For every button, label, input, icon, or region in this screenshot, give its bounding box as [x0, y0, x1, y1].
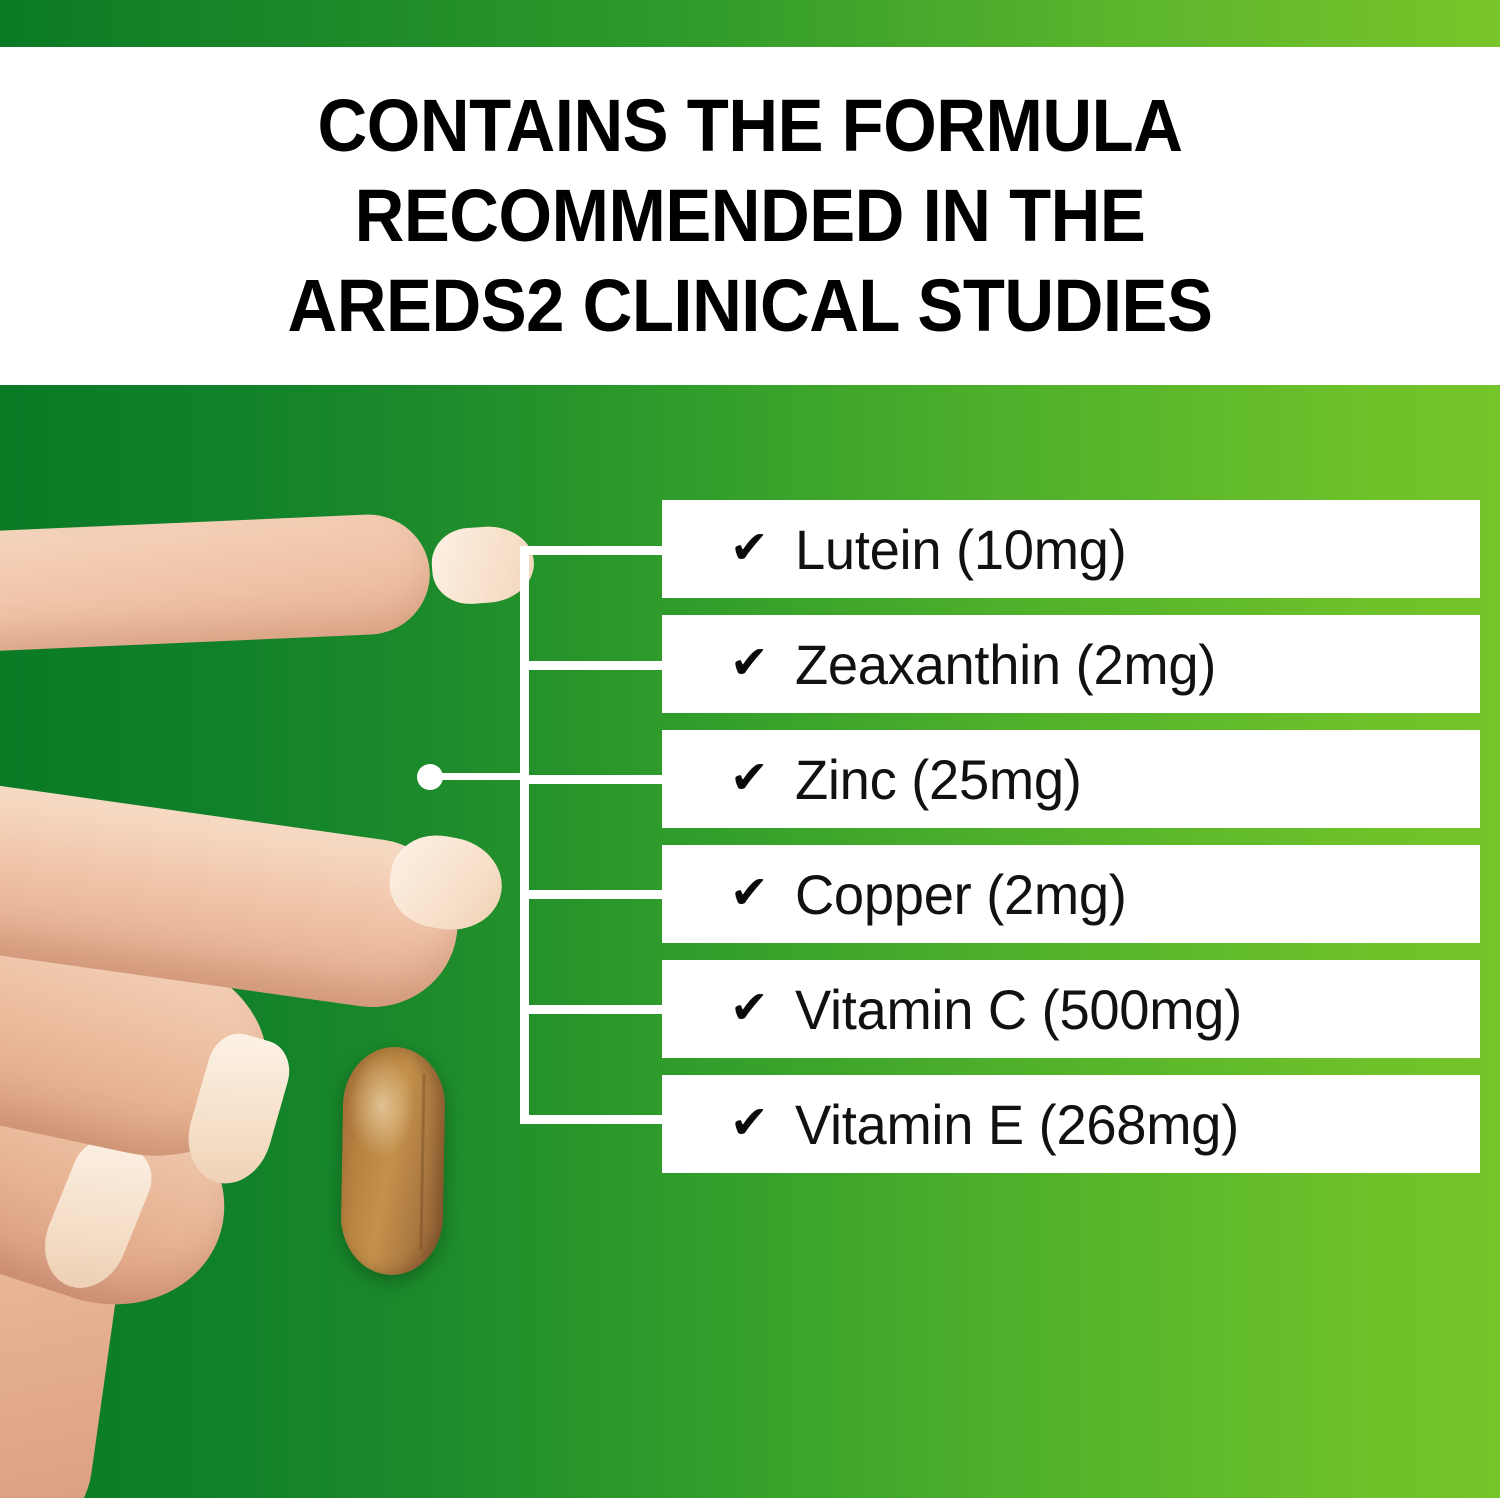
- ingredient-label: Copper (2mg): [795, 862, 1127, 927]
- bracket-branch-3: [520, 775, 668, 784]
- bracket-vertical-line: [520, 546, 529, 1124]
- list-item[interactable]: ✔ Zinc (25mg): [662, 730, 1480, 828]
- ingredient-label: Zeaxanthin (2mg): [795, 632, 1216, 697]
- bracket-branch-2: [520, 661, 668, 670]
- headline-line-1: CONTAINS THE FORMULA: [164, 81, 1336, 171]
- check-icon: ✔: [730, 524, 769, 570]
- check-icon: ✔: [730, 754, 769, 800]
- check-icon: ✔: [730, 639, 769, 685]
- list-item[interactable]: ✔ Lutein (10mg): [662, 500, 1480, 598]
- ingredient-label: Vitamin C (500mg): [795, 977, 1242, 1042]
- ingredient-label: Vitamin E (268mg): [795, 1092, 1239, 1157]
- bracket-branch-5: [520, 1005, 668, 1014]
- page-title: CONTAINS THE FORMULA RECOMMENDED IN THE …: [164, 81, 1336, 352]
- ingredient-list: ✔ Lutein (10mg) ✔ Zeaxanthin (2mg) ✔ Zin…: [662, 500, 1480, 1190]
- header-band: CONTAINS THE FORMULA RECOMMENDED IN THE …: [0, 47, 1500, 385]
- product-infographic: CONTAINS THE FORMULA RECOMMENDED IN THE …: [0, 0, 1500, 1500]
- ingredient-label: Lutein (10mg): [795, 517, 1126, 582]
- check-icon: ✔: [730, 1099, 769, 1145]
- ingredient-label: Zinc (25mg): [795, 747, 1082, 812]
- list-item[interactable]: ✔ Zeaxanthin (2mg): [662, 615, 1480, 713]
- bracket-branch-1: [520, 546, 668, 555]
- list-item[interactable]: ✔ Vitamin E (268mg): [662, 1075, 1480, 1173]
- headline-line-3: AREDS2 CLINICAL STUDIES: [164, 261, 1336, 351]
- check-icon: ✔: [730, 869, 769, 915]
- list-item[interactable]: ✔ Copper (2mg): [662, 845, 1480, 943]
- pill-callout-dot: [417, 764, 443, 790]
- headline-line-2: RECOMMENDED IN THE: [164, 171, 1336, 261]
- main-panel: ✔ Lutein (10mg) ✔ Zeaxanthin (2mg) ✔ Zin…: [0, 385, 1500, 1500]
- check-icon: ✔: [730, 984, 769, 1030]
- list-item[interactable]: ✔ Vitamin C (500mg): [662, 960, 1480, 1058]
- bracket-branch-4: [520, 890, 668, 899]
- bracket-branch-6: [520, 1115, 668, 1124]
- top-accent-bar: [0, 0, 1500, 47]
